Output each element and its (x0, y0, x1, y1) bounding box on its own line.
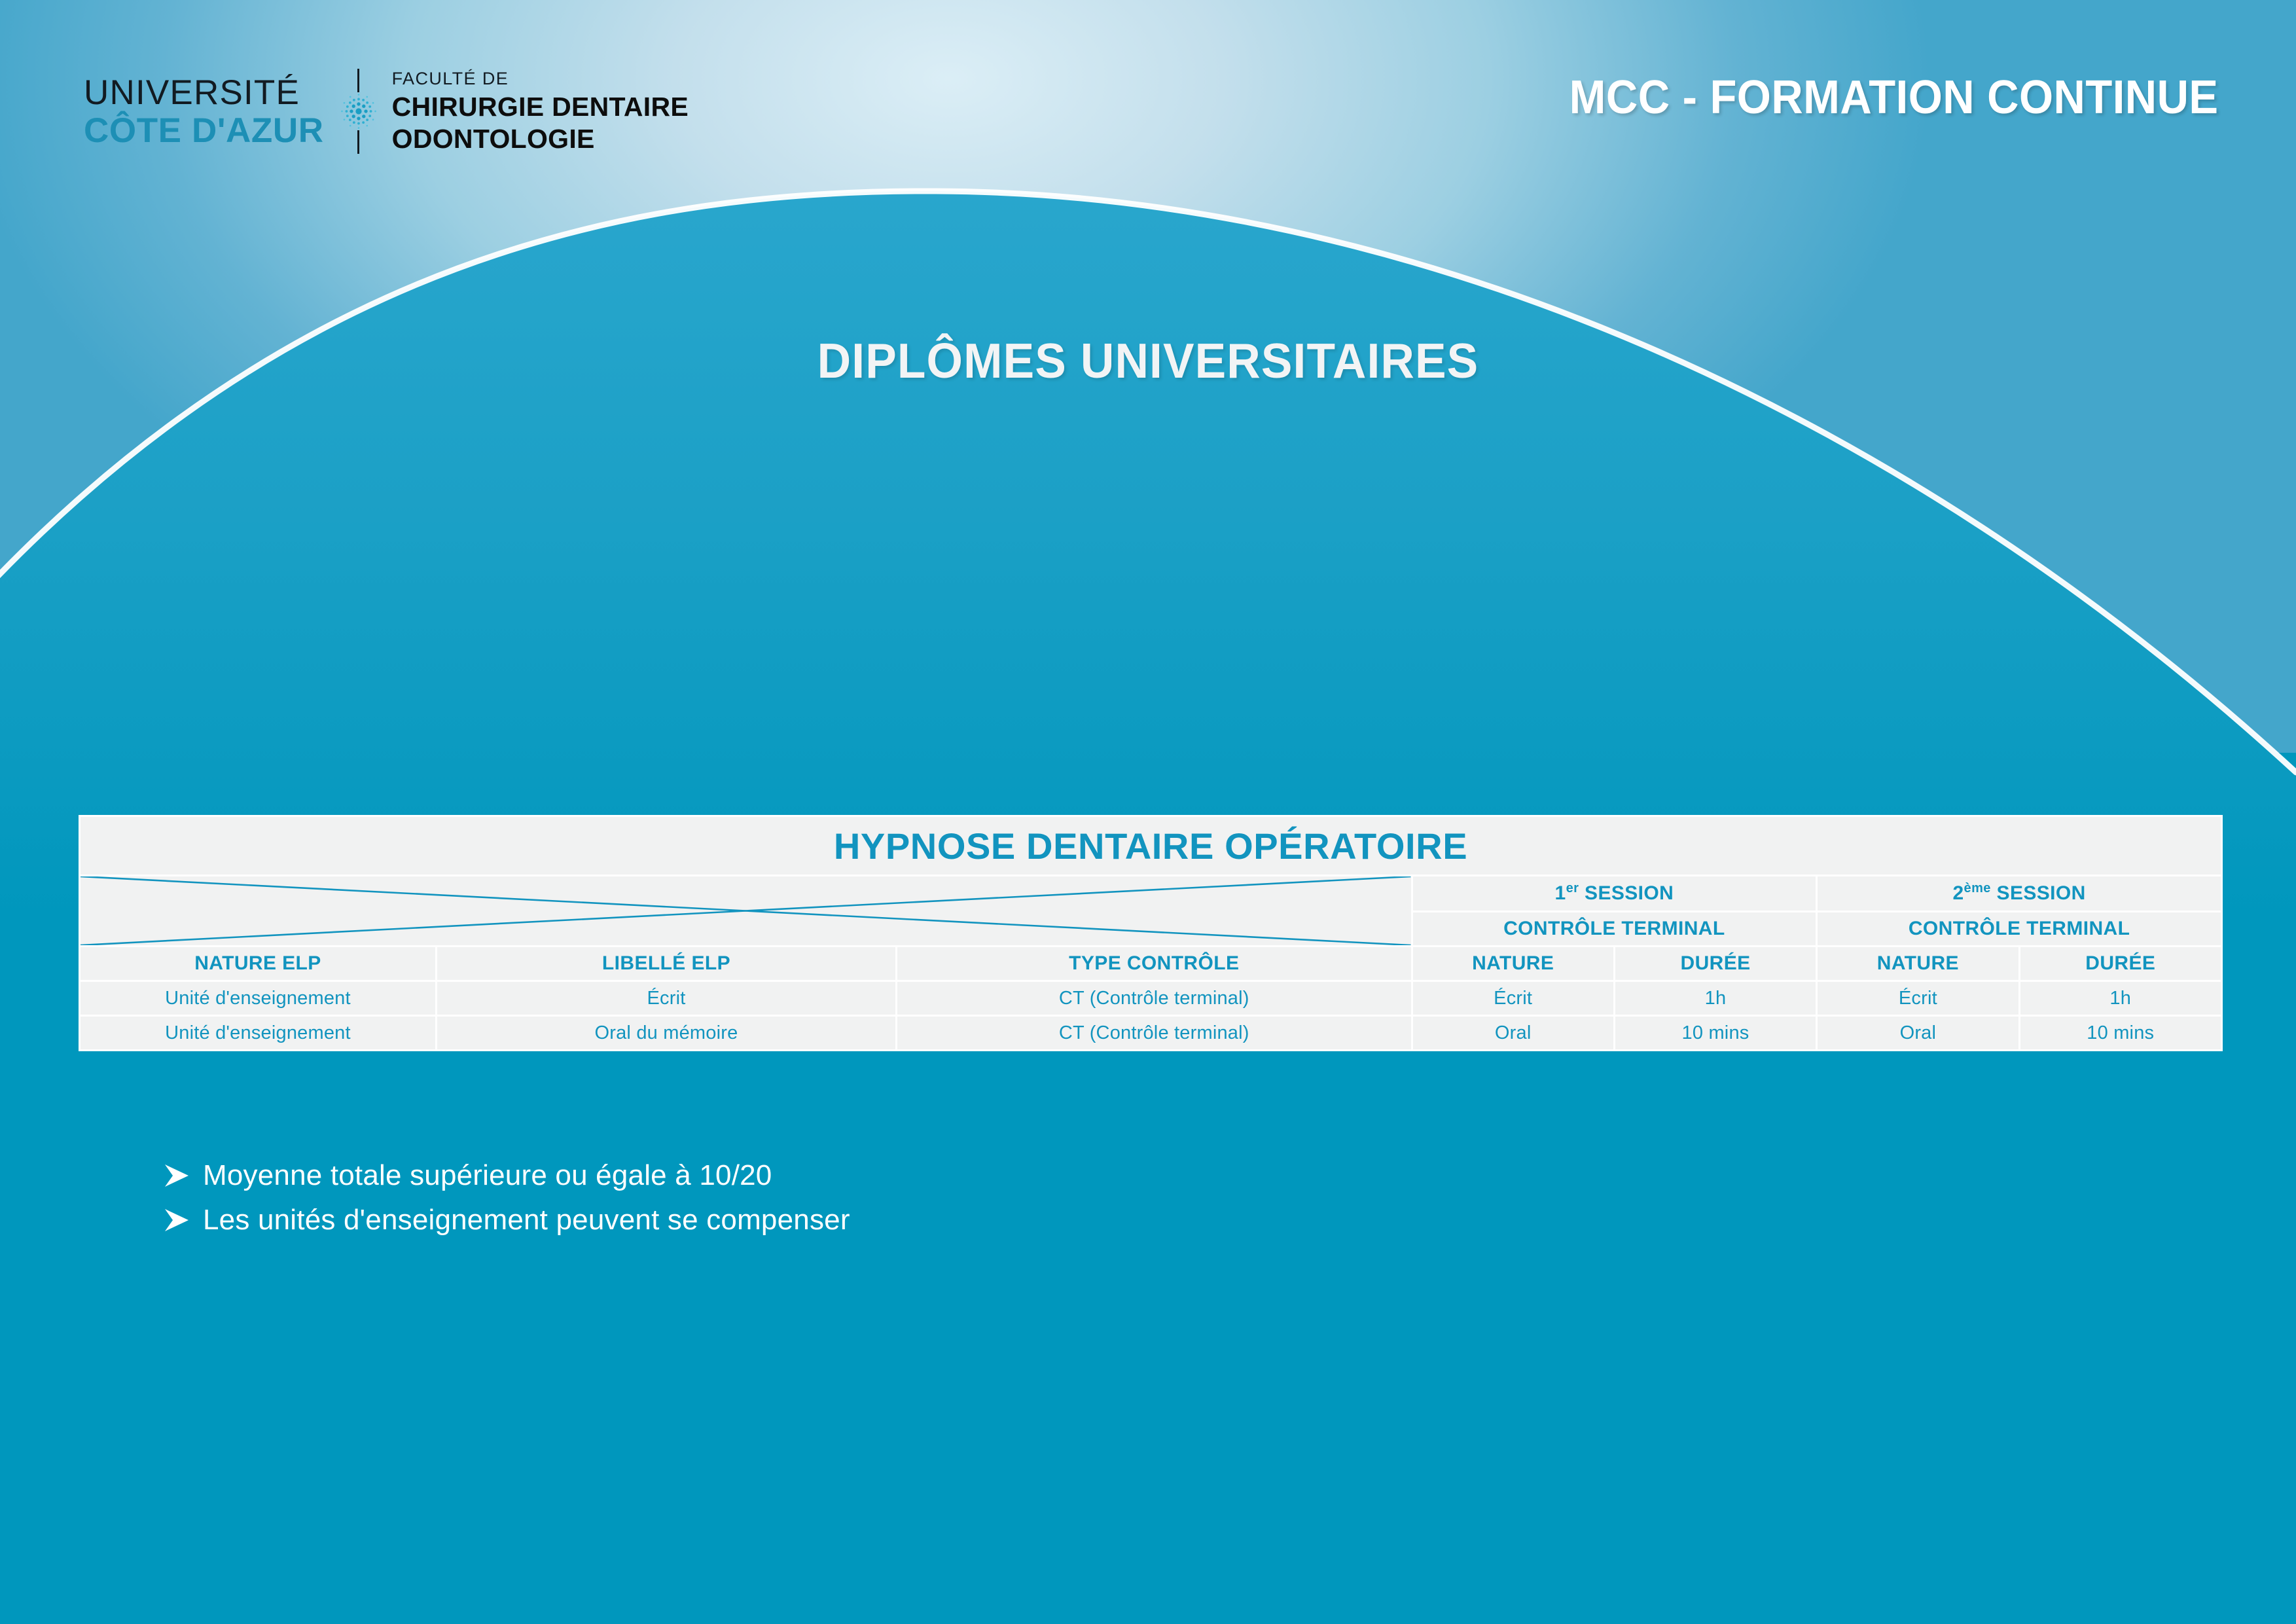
logo-faculty-name: FACULTÉ DE CHIRURGIE DENTAIRE ODONTOLOGI… (392, 70, 689, 153)
cell-type-controle: CT (Contrôle terminal) (897, 1016, 1412, 1051)
logo-faculty-eyebrow: FACULTÉ DE (392, 70, 689, 88)
column-header-s1-nature: NATURE (1412, 947, 1614, 981)
cell-s1-duree: 10 mins (1614, 1016, 1816, 1051)
cell-s1-nature: Oral (1412, 1016, 1614, 1051)
session-1-num: 1 (1554, 882, 1566, 904)
table-row: Unité d'enseignement Oral du mémoire CT … (80, 1016, 2222, 1051)
cell-s1-duree: 1h (1614, 981, 1816, 1016)
slide-canvas: UNIVERSITÉ CÔTE D'AZUR (0, 0, 2296, 1624)
logo-faculty-line2: ODONTOLOGIE (392, 126, 689, 153)
logo-university-line2: CÔTE D'AZUR (84, 113, 324, 148)
mcc-table: HYPNOSE DENTAIRE OPÉRATOIRE 1er SESSION … (79, 815, 2223, 1051)
session-2-control: CONTRÔLE TERMINAL (1817, 912, 2222, 947)
column-header-s2-nature: NATURE (1817, 947, 2019, 981)
radial-dots-icon (340, 92, 378, 130)
page-title: DIPLÔMES UNIVERSITAIRES (58, 333, 2239, 389)
logo-faculty-line1: CHIRURGIE DENTAIRE (392, 94, 689, 120)
session-2-sup: ème (1964, 881, 1991, 895)
session-2-header: 2ème SESSION (1817, 876, 2222, 912)
table-title: HYPNOSE DENTAIRE OPÉRATOIRE (80, 816, 2222, 876)
cell-s2-duree: 1h (2019, 981, 2221, 1016)
logo-divider (333, 69, 383, 154)
column-header-s1-duree: DURÉE (1614, 947, 1816, 981)
arrow-bullet-icon (162, 1163, 203, 1189)
cell-libelle-elp: Oral du mémoire (436, 1016, 896, 1051)
cell-s1-nature: Écrit (1412, 981, 1614, 1016)
divider-bar-top (357, 69, 359, 92)
session-2-word: SESSION (1997, 882, 2086, 904)
table-row: Unité d'enseignement Écrit CT (Contrôle … (80, 981, 2222, 1016)
logo-university-line1: UNIVERSITÉ (84, 75, 324, 110)
logo-university-name: UNIVERSITÉ CÔTE D'AZUR (84, 75, 324, 148)
table-session-row: 1er SESSION 2ème SESSION (80, 876, 2222, 912)
table-column-header-row: NATURE ELP LIBELLÉ ELP TYPE CONTRÔLE NAT… (80, 947, 2222, 981)
column-header-s2-duree: DURÉE (2019, 947, 2221, 981)
cell-nature-elp: Unité d'enseignement (80, 1016, 437, 1051)
column-header-type-controle: TYPE CONTRÔLE (897, 947, 1412, 981)
cell-s2-nature: Oral (1817, 1016, 2019, 1051)
cell-type-controle: CT (Contrôle terminal) (897, 981, 1412, 1016)
session-2-num: 2 (1952, 882, 1964, 904)
deck-corner-title: MCC - FORMATION CONTINUE (1570, 71, 2219, 124)
session-1-sup: er (1566, 881, 1579, 895)
table-title-row: HYPNOSE DENTAIRE OPÉRATOIRE (80, 816, 2222, 876)
column-header-libelle-elp: LIBELLÉ ELP (436, 947, 896, 981)
arrow-bullet-icon (162, 1207, 203, 1233)
list-item-label: Les unités d'enseignement peuvent se com… (203, 1204, 850, 1236)
university-logo: UNIVERSITÉ CÔTE D'AZUR (84, 69, 689, 154)
session-1-header: 1er SESSION (1412, 876, 1817, 912)
list-item: Les unités d'enseignement peuvent se com… (162, 1198, 1733, 1242)
divider-bar-bottom (357, 130, 359, 154)
cell-nature-elp: Unité d'enseignement (80, 981, 437, 1016)
cell-libelle-elp: Écrit (436, 981, 896, 1016)
cell-s2-duree: 10 mins (2019, 1016, 2221, 1051)
session-1-word: SESSION (1585, 882, 1674, 904)
conditions-list: Moyenne totale supérieure ou égale à 10/… (162, 1153, 1733, 1242)
diagonal-cross-icon (80, 876, 1412, 947)
list-item-label: Moyenne totale supérieure ou égale à 10/… (203, 1159, 772, 1192)
list-item: Moyenne totale supérieure ou égale à 10/… (162, 1153, 1733, 1198)
mcc-table-container: HYPNOSE DENTAIRE OPÉRATOIRE 1er SESSION … (79, 815, 2223, 1051)
session-1-control: CONTRÔLE TERMINAL (1412, 912, 1817, 947)
column-header-nature-elp: NATURE ELP (80, 947, 437, 981)
cell-s2-nature: Écrit (1817, 981, 2019, 1016)
